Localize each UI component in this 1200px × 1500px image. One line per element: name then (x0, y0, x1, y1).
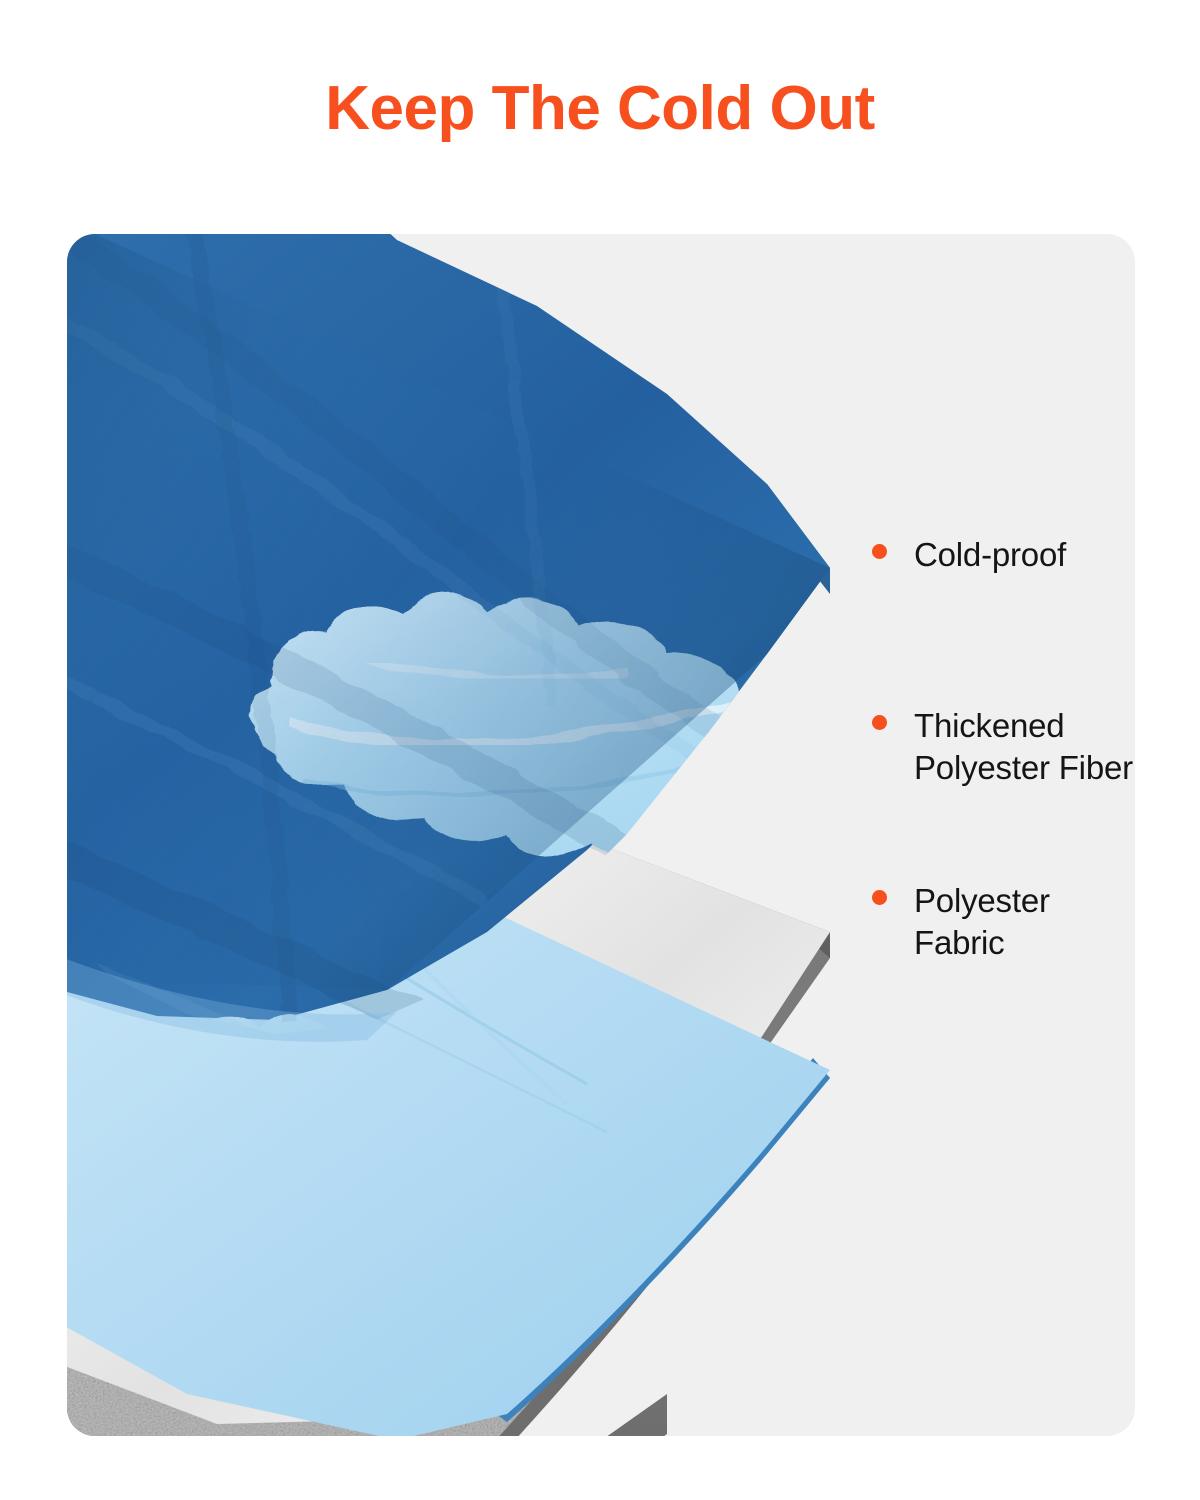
list-item-label: Polyester Fabric (914, 880, 1050, 964)
layer-cold-proof (67, 234, 830, 1436)
feature-bullet-list: Cold-proof Thickened Polyester Fiber Pol… (872, 234, 1135, 1436)
bullet-dot-icon (872, 715, 887, 730)
list-item: Polyester Fabric (872, 880, 1050, 964)
list-item: Cold-proof (872, 534, 1066, 576)
illustration-card: Cold-proof Thickened Polyester Fiber Pol… (67, 234, 1135, 1436)
page-title: Keep The Cold Out (0, 78, 1200, 140)
bullet-dot-icon (872, 544, 887, 559)
list-item-label: Cold-proof (914, 534, 1066, 576)
list-item-label: Thickened Polyester Fiber (914, 705, 1133, 789)
list-item: Thickened Polyester Fiber (872, 705, 1133, 789)
bullet-dot-icon (872, 890, 887, 905)
